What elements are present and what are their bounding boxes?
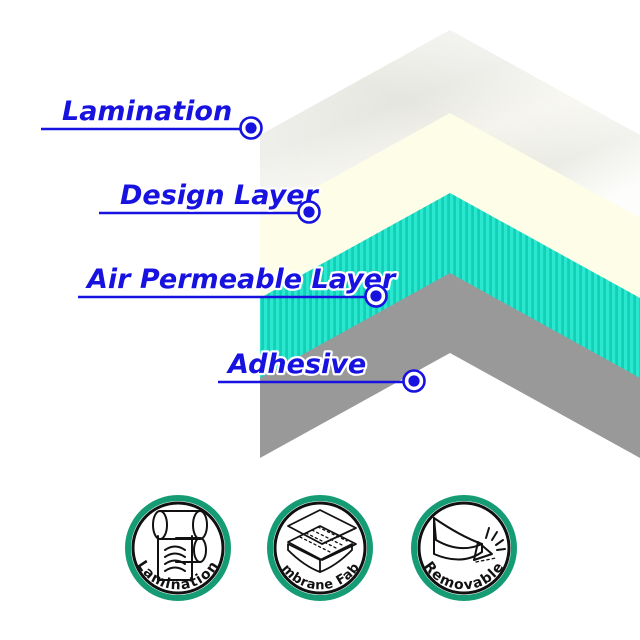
feature-badge-row: Lamination — [0, 470, 640, 640]
layer-stack-diagram: Lamination Design Layer Air Permeable La… — [0, 0, 640, 470]
callout-label-air-permeable-layer: Air Permeable Layer — [85, 264, 397, 295]
callout-marker-lamination[interactable] — [241, 118, 262, 139]
badge-removable[interactable]: Removable — [414, 498, 514, 598]
callout-label-adhesive: Adhesive — [226, 349, 366, 380]
callout-label-lamination: Lamination — [62, 96, 232, 127]
badge-lamination[interactable]: Lamination — [128, 498, 228, 598]
callout-marker-adhesive[interactable] — [404, 371, 425, 392]
callout-marker-air-permeable-layer[interactable] — [366, 286, 387, 307]
callout-label-design-layer: Design Layer — [120, 180, 320, 211]
callout-lamination[interactable]: Lamination — [41, 96, 262, 139]
product-layer-infographic: Lamination Design Layer Air Permeable La… — [0, 0, 640, 640]
callout-marker-design-layer[interactable] — [299, 202, 320, 223]
